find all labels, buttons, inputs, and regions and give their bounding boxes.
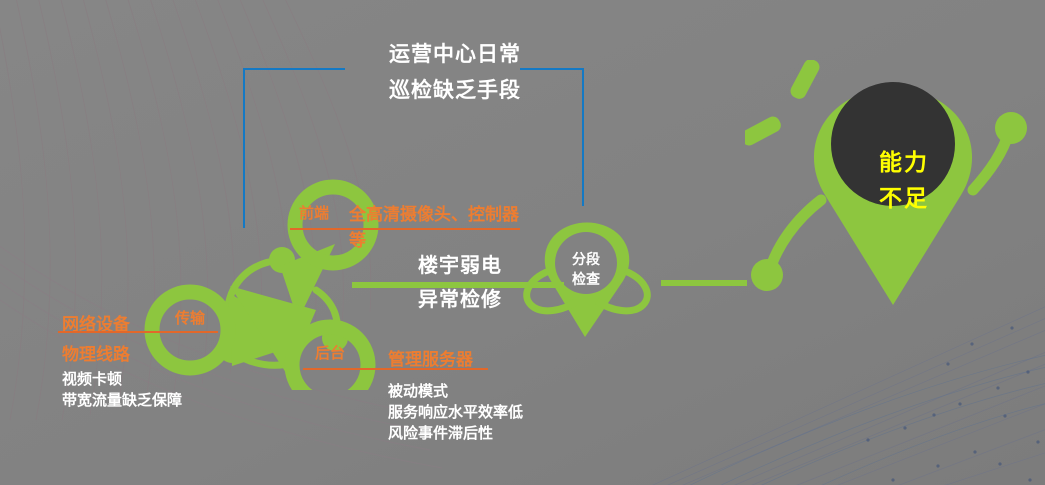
connector-dash [661, 280, 747, 286]
pin-capability-line-2: 不足 [852, 181, 956, 217]
callout-transmission-line-2: 物理线路 [62, 340, 252, 365]
pin-capability-line-1: 能力 [852, 145, 956, 181]
callout-transmission-body-1: 视频卡顿 [62, 369, 252, 390]
callout-transmission: 网络设备 物理线路 视频卡顿 带宽流量缺乏保障 [62, 310, 252, 411]
pin-front-label: 前端 [288, 202, 340, 223]
pin-capability-label: 能力 不足 [852, 145, 956, 217]
callout-backend-head: 管理服务器 [388, 345, 608, 370]
blue-frame-right-edge [582, 68, 584, 206]
callout-backend: 管理服务器 被动模式 服务响应水平效率低 风险事件滞后性 [388, 345, 608, 444]
callout-transmission-body-2: 带宽流量缺乏保障 [62, 390, 252, 411]
pin-segment-line-1: 分段 [556, 250, 616, 270]
blue-frame-top-left-segment [243, 68, 345, 70]
callout-backend-body-3: 风险事件滞后性 [388, 423, 608, 444]
callout-backend-rule [303, 368, 488, 370]
center-headline-line-2: 异常检修 [380, 282, 540, 316]
callout-front-rule [290, 228, 520, 230]
pin-segment-line-2: 检查 [556, 270, 616, 290]
main-headline: 运营中心日常 巡检缺乏手段 [340, 36, 570, 108]
callout-backend-body-2: 服务响应水平效率低 [388, 402, 608, 423]
center-headline-line-1: 楼宇弱电 [380, 248, 540, 282]
diagram-canvas: 运营中心日常 巡检缺乏手段 前端 传输 后 [0, 0, 1045, 485]
callout-backend-body-1: 被动模式 [388, 381, 608, 402]
pin-backend-label: 后台 [304, 342, 356, 363]
callout-transmission-rule [58, 331, 218, 333]
pin-segment-label: 分段 检查 [556, 250, 616, 290]
headline-line-2: 巡检缺乏手段 [340, 72, 570, 108]
callout-front: 全高清摄像头、控制器 等 [349, 200, 549, 251]
callout-front-line-1: 全高清摄像头、控制器 [349, 200, 549, 225]
headline-line-1: 运营中心日常 [340, 36, 570, 72]
center-headline: 楼宇弱电 异常检修 [380, 248, 540, 316]
